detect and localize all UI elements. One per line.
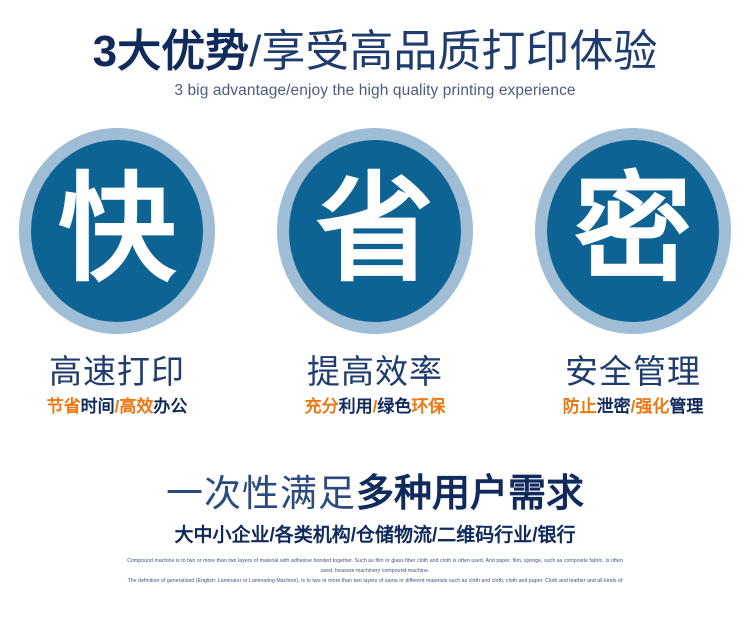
badge-character-3: 密 — [574, 170, 692, 288]
headline-strong: 3大优势 — [93, 27, 249, 76]
fineprint-line-3: The definition of generalized (English: … — [0, 577, 750, 587]
caption-sub-segment-1: 节省 — [47, 397, 81, 416]
badge-disc-2: 省 — [289, 140, 461, 322]
badge-disc-3: 密 — [547, 140, 719, 322]
badge-character-1: 快 — [58, 170, 176, 288]
badge-row: 快 省 密 — [0, 128, 750, 343]
fineprint-block: Compound machine is to two or more than … — [0, 557, 750, 586]
badge-item-3: 密 — [533, 128, 733, 343]
badge-ring-3: 密 — [535, 128, 731, 334]
footer-headline-bold: 多种用户需求 — [356, 473, 584, 515]
caption-sub-segment-2: 时间 — [81, 397, 115, 416]
badge-item-2: 省 — [275, 128, 475, 343]
footer-headline-light: 一次性满足 — [166, 473, 356, 514]
caption-sub-segment-5: 办公 — [153, 397, 187, 416]
badge-disc-1: 快 — [31, 140, 203, 322]
caption-sub-segment-4: 高效 — [119, 397, 153, 416]
badge-ring-2: 省 — [277, 128, 473, 334]
caption-sub-2: 充分利用/绿色环保 — [275, 397, 475, 417]
footer-headline: 一次性满足多种用户需求 — [0, 475, 750, 513]
subhead-english: 3 big advantage/enjoy the high quality p… — [0, 82, 750, 100]
caption-main-2: 提高效率 — [275, 353, 475, 391]
caption-main-3: 安全管理 — [533, 353, 733, 391]
caption-sub-segment-2: 利用 — [339, 397, 373, 416]
caption-sub-segment-5: 管理 — [669, 397, 703, 416]
caption-sub-segment-5: 环保 — [411, 397, 445, 416]
caption-item-1: 高速打印 节省时间/高效办公 — [17, 353, 217, 417]
fineprint-line-2: used, treasure machinery compound machin… — [0, 567, 750, 577]
caption-sub-1: 节省时间/高效办公 — [17, 397, 217, 417]
header: 3大优势/享受高品质打印体验 3 big advantage/enjoy the… — [0, 0, 750, 100]
caption-sub-segment-1: 充分 — [305, 397, 339, 416]
caption-row: 高速打印 节省时间/高效办公 提高效率 充分利用/绿色环保 安全管理 防止泄密/… — [0, 353, 750, 417]
badge-item-1: 快 — [17, 128, 217, 343]
caption-sub-3: 防止泄密/强化管理 — [533, 397, 733, 417]
caption-sub-segment-1: 防止 — [563, 397, 597, 416]
caption-sub-segment-4: 强化 — [635, 397, 669, 416]
caption-sub-segment-4: 绿色 — [377, 397, 411, 416]
caption-item-3: 安全管理 防止泄密/强化管理 — [533, 353, 733, 417]
caption-item-2: 提高效率 充分利用/绿色环保 — [275, 353, 475, 417]
fineprint-line-1: Compound machine is to two or more than … — [0, 557, 750, 567]
footer-industries: 大中小企业/各类机构/仓储物流/二维码行业/银行 — [0, 520, 750, 547]
caption-sub-segment-2: 泄密 — [597, 397, 631, 416]
footer: 一次性满足多种用户需求 大中小企业/各类机构/仓储物流/二维码行业/银行 Com… — [0, 475, 750, 586]
caption-main-1: 高速打印 — [17, 353, 217, 391]
headline: 3大优势/享受高品质打印体验 — [0, 30, 750, 74]
badge-character-2: 省 — [316, 170, 434, 288]
badge-ring-1: 快 — [19, 128, 215, 334]
headline-light: /享受高品质打印体验 — [249, 27, 657, 76]
